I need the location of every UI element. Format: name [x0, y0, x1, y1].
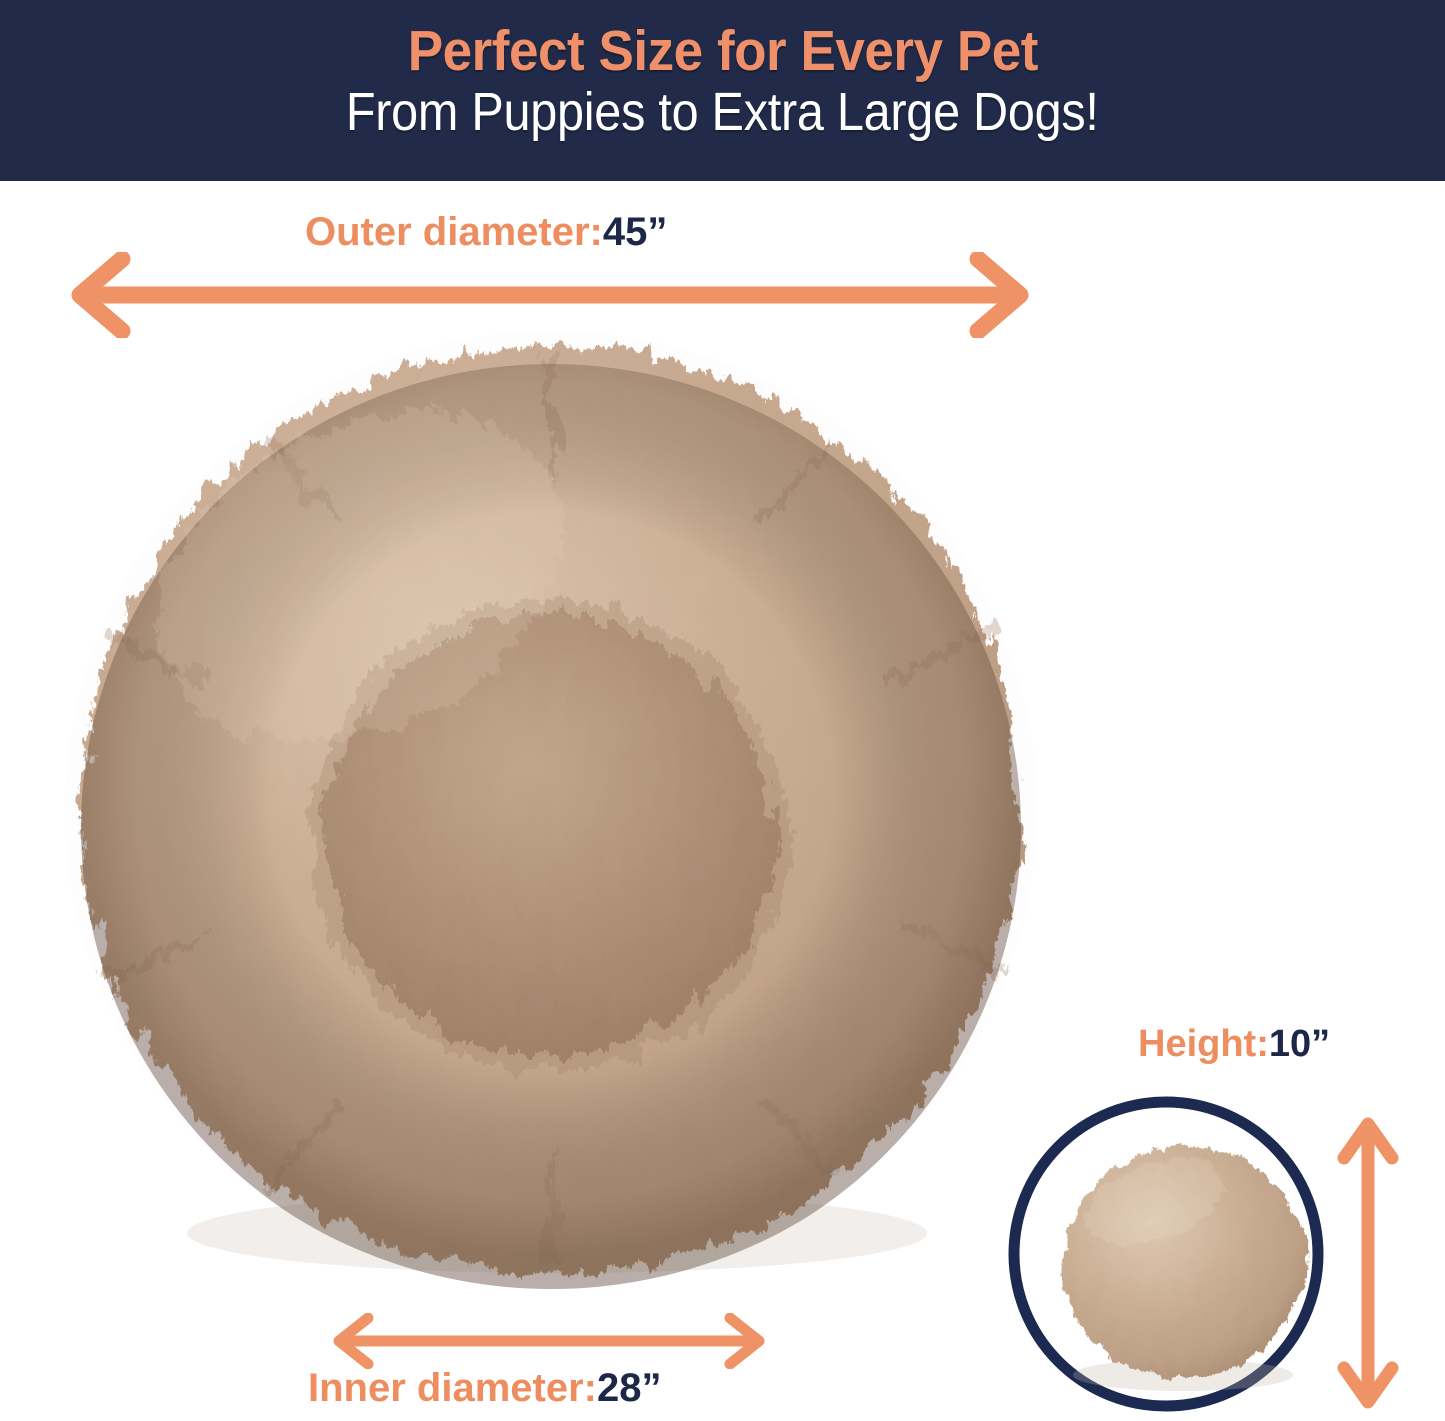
- outer-diameter-arrow-icon: [60, 252, 1040, 338]
- product-photo-top-view: [62, 328, 1040, 1293]
- outer-diameter-label: Outer diameter:45”: [305, 212, 667, 252]
- height-arrow-icon: [1335, 1110, 1401, 1416]
- inner-diameter-label: Inner diameter:28”: [308, 1368, 661, 1408]
- outer-diameter-value: 45”: [603, 210, 668, 254]
- infographic-page: Perfect Size for Every Pet From Puppies …: [0, 0, 1445, 1421]
- headline-text: Perfect Size for Every Pet: [407, 22, 1037, 80]
- height-label: Height:10”: [1138, 1025, 1330, 1063]
- height-label-text: Height:: [1138, 1023, 1269, 1065]
- product-photo-side-view-inset: [1005, 1092, 1330, 1417]
- inner-diameter-value: 28”: [597, 1366, 662, 1410]
- inner-diameter-arrow-icon: [325, 1313, 773, 1369]
- height-value: 10”: [1269, 1023, 1330, 1065]
- header-banner: Perfect Size for Every Pet From Puppies …: [0, 0, 1445, 181]
- subheadline-text: From Puppies to Extra Large Dogs!: [346, 84, 1099, 141]
- outer-diameter-label-text: Outer diameter:: [305, 210, 603, 254]
- inner-diameter-label-text: Inner diameter:: [308, 1366, 597, 1410]
